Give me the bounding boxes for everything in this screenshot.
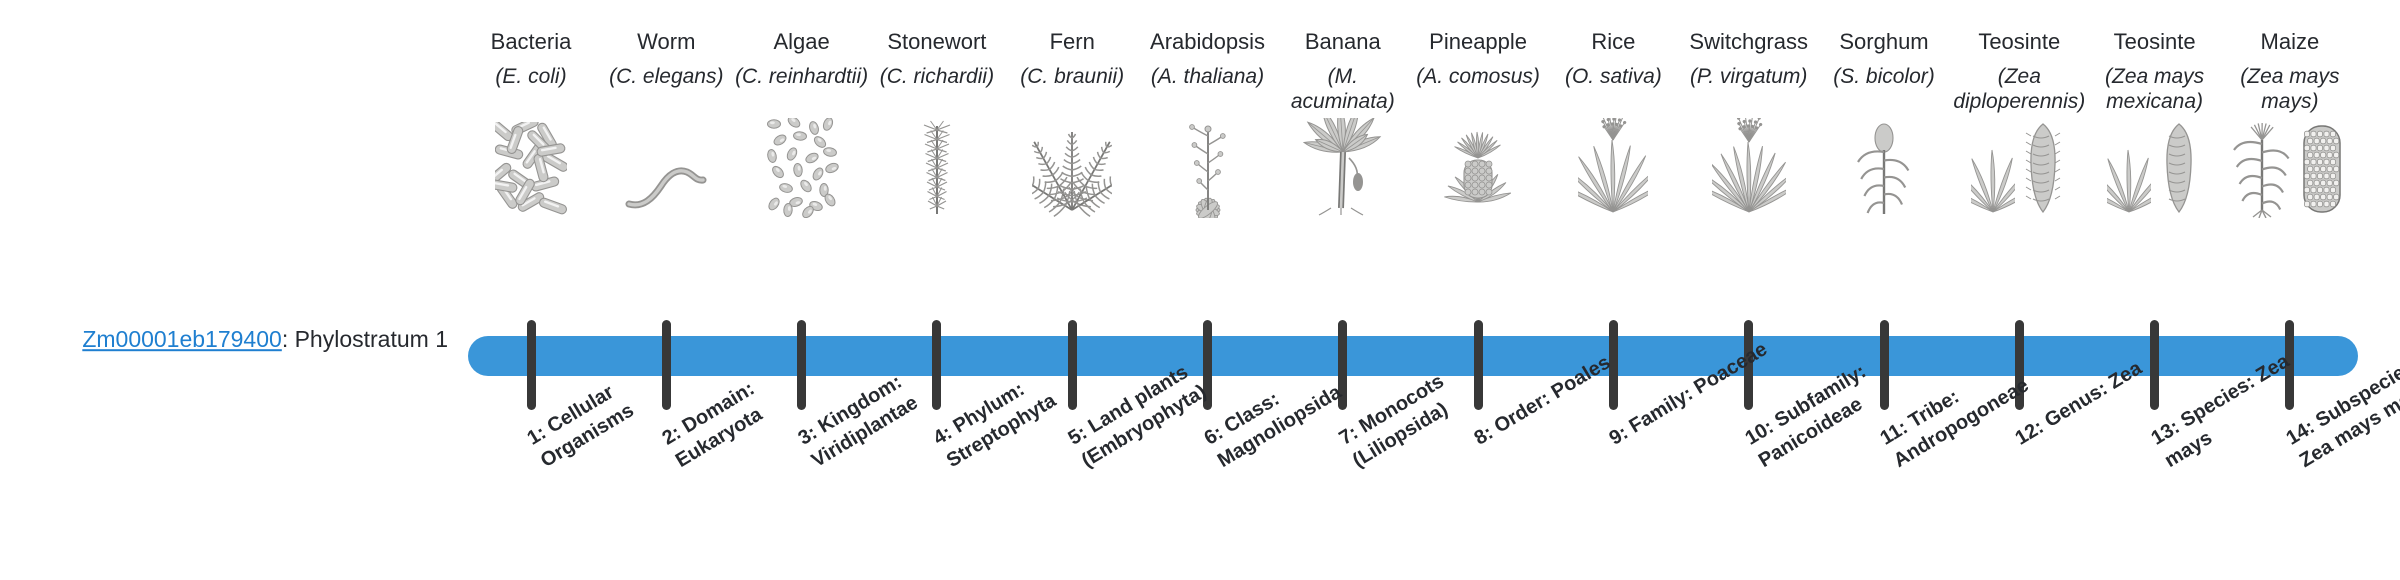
species-scientific-name: (P. virgatum) (1681, 64, 1817, 116)
species-scientific-name: (A. comosus) (1410, 64, 1546, 116)
species-common-name: Banana (1275, 28, 1411, 56)
species-common-name: Teosinte (2087, 28, 2223, 56)
species-column: Arabidopsis(A. thaliana) (1140, 28, 1276, 218)
species-column: Stonewort(C. richardii) (869, 28, 1005, 218)
species-common-name: Maize (2222, 28, 2358, 56)
species-column: Maize(Zea mays mays) (2222, 28, 2358, 218)
teosinte-diploperennis-icon (1951, 120, 2087, 218)
species-common-name: Stonewort (869, 28, 1005, 56)
gene-phylostratum-label: Zm00001eb179400: Phylostratum 1 (28, 326, 448, 354)
phylostratum-timeline-bar (468, 336, 2358, 376)
species-column: Bacteria(E. coli) (463, 28, 599, 218)
species-column: Sorghum(S. bicolor) (1816, 28, 1952, 218)
worm-icon (598, 120, 734, 218)
species-scientific-name: (M. acuminata) (1275, 64, 1411, 116)
fern-icon (1004, 120, 1140, 218)
species-common-name: Switchgrass (1681, 28, 1817, 56)
species-column: Fern(C. braunii) (1004, 28, 1140, 218)
gene-id-link[interactable]: Zm00001eb179400 (82, 326, 282, 352)
algae-icon (734, 120, 870, 218)
species-scientific-name: (C. braunii) (1004, 64, 1140, 116)
teosinte-mexicana-icon (2087, 120, 2223, 218)
species-scientific-name: (C. reinhardtii) (734, 64, 870, 116)
phylostratum-value: Phylostratum 1 (295, 326, 448, 352)
gene-separator: : (282, 326, 295, 352)
species-column: Rice(O. sativa) (1545, 28, 1681, 218)
stonewort-icon (869, 120, 1005, 218)
banana-icon (1275, 120, 1411, 218)
pineapple-icon (1410, 120, 1546, 218)
phylostratigraphy-figure: Zm00001eb179400: Phylostratum 1 Bacteria… (0, 0, 2400, 580)
species-header-track: Bacteria(E. coli) (0, 0, 2400, 310)
species-common-name: Pineapple (1410, 28, 1546, 56)
species-scientific-name: (Zea mays mays) (2222, 64, 2358, 116)
species-common-name: Fern (1004, 28, 1140, 56)
species-column: Switchgrass(P. virgatum) (1681, 28, 1817, 218)
species-column: Worm(C. elegans) (598, 28, 734, 218)
species-common-name: Worm (598, 28, 734, 56)
species-scientific-name: (O. sativa) (1545, 64, 1681, 116)
species-scientific-name: (Zea mays mexicana) (2087, 64, 2223, 116)
species-column: Teosinte(Zea diploperennis) (1951, 28, 2087, 218)
species-common-name: Arabidopsis (1140, 28, 1276, 56)
bacteria-icon (463, 120, 599, 218)
species-common-name: Rice (1545, 28, 1681, 56)
maize-icon (2222, 120, 2358, 218)
species-column: Banana(M. acuminata) (1275, 28, 1411, 218)
species-common-name: Sorghum (1816, 28, 1952, 56)
species-common-name: Bacteria (463, 28, 599, 56)
species-common-name: Teosinte (1951, 28, 2087, 56)
species-column: Algae(C. reinhardtii) (734, 28, 870, 218)
arabidopsis-icon (1140, 120, 1276, 218)
switchgrass-icon (1681, 120, 1817, 218)
timeline-tick[interactable] (527, 320, 536, 410)
sorghum-icon (1816, 120, 1952, 218)
rice-icon (1545, 120, 1681, 218)
species-scientific-name: (E. coli) (463, 64, 599, 116)
species-column: Pineapple(A. comosus) (1410, 28, 1546, 218)
species-scientific-name: (Zea diploperennis) (1951, 64, 2087, 116)
species-scientific-name: (C. richardii) (869, 64, 1005, 116)
species-scientific-name: (A. thaliana) (1140, 64, 1276, 116)
species-common-name: Algae (734, 28, 870, 56)
species-column: Teosinte(Zea mays mexicana) (2087, 28, 2223, 218)
species-scientific-name: (C. elegans) (598, 64, 734, 116)
species-scientific-name: (S. bicolor) (1816, 64, 1952, 116)
